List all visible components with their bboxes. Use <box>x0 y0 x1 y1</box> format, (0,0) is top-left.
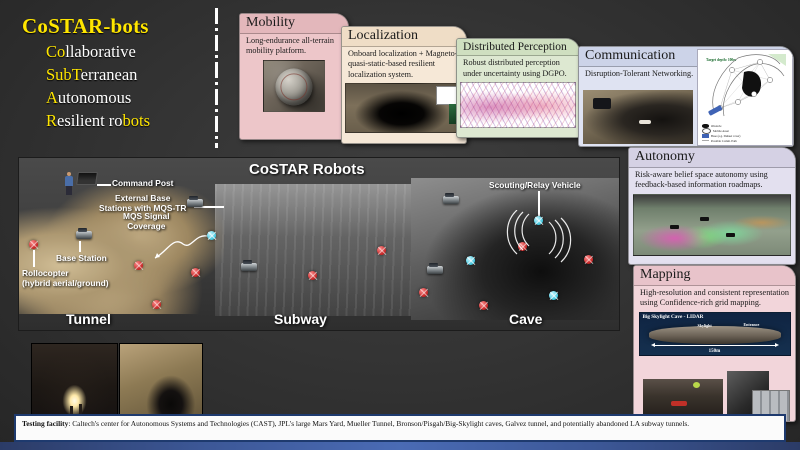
lidar-skylight-annotation: Skylight <box>698 323 712 328</box>
label-base-station: Base Station <box>56 254 107 264</box>
point-cloud-maps <box>460 82 576 128</box>
title-line-collaborative-rest: llaborative <box>65 42 136 61</box>
panel-mobility-body: Long-endurance all-terrain mobility plat… <box>240 34 348 59</box>
drone-body-shape <box>593 98 611 109</box>
robot-marker <box>479 301 488 310</box>
panel-autonomy[interactable]: Autonomy Risk-aware belief space autonom… <box>628 147 796 265</box>
spherical-rover-shape <box>275 68 312 105</box>
footer-lead: Testing facility <box>22 419 68 428</box>
red-rover-shape <box>671 401 687 406</box>
label-rollocopter-line1: Rollocopter <box>22 268 69 278</box>
panel-distributed-perception-body: Robust distributed perception under unce… <box>457 56 579 81</box>
lidar-scale-label: 150m <box>709 349 721 354</box>
cave-ridge-shape <box>649 326 781 344</box>
title-block: CoSTAR-bots Collaborative SubTerranean A… <box>22 14 212 131</box>
robot-marker <box>152 300 161 309</box>
cave-entrance-photo <box>345 83 463 133</box>
panel-mapping-body: High-resolution and consistent represent… <box>634 286 795 311</box>
robot-marker <box>419 288 428 297</box>
label-mqs-signal-coverage: MQS Signal Coverage <box>123 212 170 231</box>
deployed-node-shape <box>639 120 651 124</box>
surface-rover-icon <box>443 196 459 204</box>
panel-localization-title: Localization <box>342 27 466 47</box>
slide-canvas: CoSTAR-bots Collaborative SubTerranean A… <box>0 0 800 450</box>
label-external-line1: External Base <box>115 193 170 203</box>
lidar-title: Big Skylight Cave - LIDAR <box>643 314 704 320</box>
network-legend: Obstacle Mobile Asset Base (e.g. Duheet … <box>702 124 740 143</box>
base-station-rover-icon <box>76 231 92 239</box>
robot-marker <box>308 271 317 280</box>
title-line-resilient: Resilient robots <box>46 111 212 131</box>
robot-marker <box>466 256 475 265</box>
drone-marker-2 <box>700 217 709 221</box>
base-swatch-icon <box>702 134 709 138</box>
robot-marker <box>191 268 200 277</box>
drone-marker-1 <box>670 225 679 229</box>
label-scouting-relay-vehicle: Scouting/Relay Vehicle <box>489 181 581 191</box>
zone-label-subway: Subway <box>274 311 327 327</box>
comm-path-swatch-icon <box>702 140 709 141</box>
zone-label-tunnel: Tunnel <box>66 311 111 327</box>
dash-dot-divider <box>215 8 218 148</box>
mqs-coverage-pointer <box>143 230 217 270</box>
spherical-rover-photo <box>263 60 325 112</box>
command-post-leader-line <box>97 184 111 186</box>
panel-autonomy-body: Risk-aware belief space autonomy using f… <box>629 168 795 193</box>
rollocopter-leader-line <box>33 250 35 267</box>
title-line-autonomous: Autonomous <box>46 88 212 108</box>
projected-roadmap-tabletop-photo <box>633 194 791 256</box>
costar-robots-diagram[interactable]: CoSTAR Robots Command Post MQS Signal Co… <box>18 157 620 331</box>
panel-mobility[interactable]: Mobility Long-endurance all-terrain mobi… <box>239 13 349 140</box>
lidar-entrance-annotation: Entrance <box>744 322 760 327</box>
base-station-leader-line <box>79 241 81 252</box>
operator-figure <box>64 172 74 195</box>
zone-label-cave: Cave <box>509 311 542 327</box>
comm-wave-arcs <box>489 210 599 280</box>
label-rollocopter: Rollocopter (hybrid aerial/ground) <box>22 269 109 288</box>
network-graph-svg <box>698 50 792 122</box>
comm-network-diagram: Target depth: 100m Obstacle Mobile Asset <box>697 49 793 146</box>
title-line-subterranean: SubTerranean <box>46 65 212 85</box>
panel-communication[interactable]: Communication Disruption-Tolerant Networ… <box>578 46 794 147</box>
scale-bar <box>655 345 775 346</box>
subway-rover-icon-2 <box>427 266 443 274</box>
diagram-title: CoSTAR Robots <box>249 161 365 178</box>
subway-rover-icon <box>241 263 257 271</box>
panel-localization[interactable]: Localization Onboard localization + Magn… <box>341 26 467 144</box>
legend-item-comm-path: Possible Comm. Path <box>702 139 740 143</box>
drone-marker-3 <box>726 233 735 237</box>
footer-text: : Caltech's center for Autonomous System… <box>68 419 639 428</box>
panel-localization-body: Onboard localization + Magneto-quasi-sta… <box>342 47 466 83</box>
bottom-accent-strip <box>0 442 800 450</box>
title-line-collaborative: Collaborative <box>46 42 212 62</box>
cave-dropped-node-photo <box>583 90 693 144</box>
green-marker-shape <box>693 382 700 388</box>
panel-mobility-title: Mobility <box>240 14 348 34</box>
robot-marker <box>377 246 386 255</box>
page-title: CoSTAR-bots <box>22 14 212 39</box>
robot-marker <box>134 261 143 270</box>
robot-marker <box>549 291 558 300</box>
panel-autonomy-title: Autonomy <box>629 148 795 168</box>
footer-note: Testing facility: Caltech's center for A… <box>14 414 786 442</box>
external-base-station-rover-icon <box>187 199 203 207</box>
label-external-line2: Stations with MQS-TR <box>99 203 186 213</box>
label-rollocopter-line2: (hybrid aerial/ground) <box>22 278 109 288</box>
command-post-laptop <box>76 172 98 185</box>
panel-distributed-perception-title: Distributed Perception <box>457 39 579 56</box>
footer-line2: subway tunnels. <box>641 419 689 428</box>
lidar-scan-strip: Big Skylight Cave - LIDAR Skylight Entra… <box>639 312 791 356</box>
subway-environment-art <box>215 184 420 316</box>
rollocopter-marker <box>29 240 38 249</box>
panel-mapping[interactable]: Mapping High-resolution and consistent r… <box>633 265 796 422</box>
label-command-post: Command Post <box>112 179 173 189</box>
label-external-base-stations: External Base Stations with MQS-TR <box>99 194 186 213</box>
panel-mapping-title: Mapping <box>634 266 795 286</box>
robot-marker <box>207 231 216 240</box>
panel-distributed-perception[interactable]: Distributed Perception Robust distribute… <box>456 38 580 138</box>
cave-rover-photo <box>643 379 723 417</box>
